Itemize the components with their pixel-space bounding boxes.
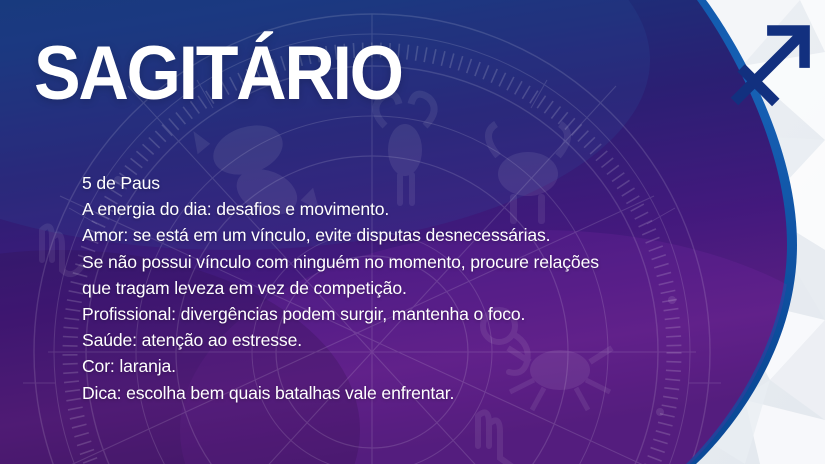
sign-title: SAGITÁRIO [34,36,402,112]
horoscope-body: 5 de Paus A energia do dia: desafios e m… [82,170,602,406]
horoscope-card: SAGITÁRIO 5 de Paus A energia do dia: de… [0,0,825,464]
reading-line-card-name: 5 de Paus [82,170,602,196]
reading-line-dica: Dica: escolha bem quais batalhas vale en… [82,380,602,406]
reading-line-amor: Amor: se está em um vínculo, evite dispu… [82,222,602,248]
reading-line-cor: Cor: laranja. [82,353,602,379]
reading-line-profissional: Profissional: divergências podem surgir,… [82,301,602,327]
sagittarius-arrow-icon [722,18,818,114]
reading-line-energia: A energia do dia: desafios e movimento. [82,196,602,222]
reading-line-saude: Saúde: atenção ao estresse. [82,327,602,353]
reading-line-amor-cont: Se não possui vínculo com ninguém no mom… [82,249,602,301]
